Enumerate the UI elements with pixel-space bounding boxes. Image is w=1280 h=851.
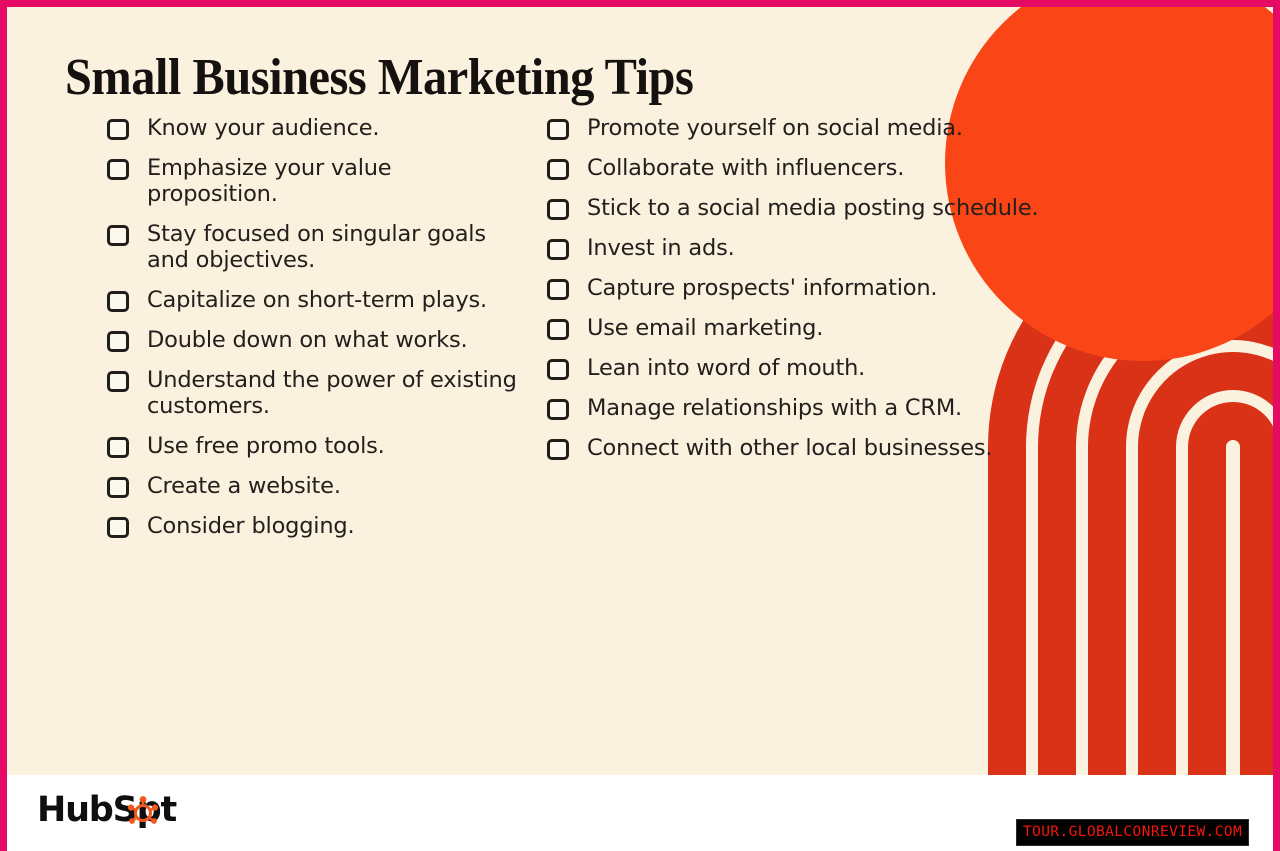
checkbox-icon[interactable] bbox=[547, 119, 569, 140]
list-item[interactable]: Use free promo tools. bbox=[107, 433, 527, 459]
checkbox-icon[interactable] bbox=[547, 359, 569, 380]
watermark-badge: TOUR.GLOBALCONREVIEW.COM bbox=[1016, 819, 1249, 846]
list-item-label: Create a website. bbox=[147, 473, 341, 499]
page-title: Small Business Marketing Tips bbox=[65, 49, 693, 107]
checkbox-icon[interactable] bbox=[547, 399, 569, 420]
infographic-frame: Small Business Marketing Tips Know your … bbox=[0, 0, 1280, 851]
checkbox-icon[interactable] bbox=[547, 159, 569, 180]
list-item[interactable]: Capitalize on short-term plays. bbox=[107, 287, 527, 313]
checkbox-icon[interactable] bbox=[547, 319, 569, 340]
right-column: Promote yourself on social media. Collab… bbox=[527, 115, 1087, 475]
list-item[interactable]: Stay focused on singular goals and objec… bbox=[107, 221, 527, 273]
list-item[interactable]: Double down on what works. bbox=[107, 327, 527, 353]
checkbox-icon[interactable] bbox=[107, 437, 129, 458]
list-item[interactable]: Use email marketing. bbox=[547, 315, 1087, 341]
checkbox-icon[interactable] bbox=[107, 477, 129, 498]
checkbox-icon[interactable] bbox=[107, 225, 129, 246]
list-item-label: Emphasize your value proposition. bbox=[147, 155, 527, 207]
list-item-label: Capitalize on short-term plays. bbox=[147, 287, 487, 313]
list-item[interactable]: Promote yourself on social media. bbox=[547, 115, 1087, 141]
list-item[interactable]: Manage relationships with a CRM. bbox=[547, 395, 1087, 421]
list-item-label: Use email marketing. bbox=[587, 315, 823, 341]
list-item[interactable]: Know your audience. bbox=[107, 115, 527, 141]
list-item-label: Consider blogging. bbox=[147, 513, 354, 539]
list-item-label: Capture prospects' information. bbox=[587, 275, 937, 301]
list-item-label: Collaborate with influencers. bbox=[587, 155, 904, 181]
list-item-label: Double down on what works. bbox=[147, 327, 467, 353]
checkbox-icon[interactable] bbox=[107, 291, 129, 312]
hubspot-logo: HubSp t bbox=[37, 789, 176, 831]
list-item[interactable]: Understand the power of existing custome… bbox=[107, 367, 527, 419]
list-item-label: Know your audience. bbox=[147, 115, 379, 141]
checkbox-icon[interactable] bbox=[107, 159, 129, 180]
checkbox-icon[interactable] bbox=[107, 331, 129, 352]
checkbox-icon[interactable] bbox=[107, 119, 129, 140]
list-item[interactable]: Stick to a social media posting schedule… bbox=[547, 195, 1087, 221]
list-item-label: Promote yourself on social media. bbox=[587, 115, 963, 141]
watermark-text: TOUR.GLOBALCONREVIEW.COM bbox=[1023, 824, 1242, 840]
checkbox-icon[interactable] bbox=[547, 239, 569, 260]
list-item[interactable]: Capture prospects' information. bbox=[547, 275, 1087, 301]
infographic-card: Small Business Marketing Tips Know your … bbox=[7, 7, 1273, 775]
list-item[interactable]: Connect with other local businesses. bbox=[547, 435, 1087, 461]
list-item[interactable]: Emphasize your value proposition. bbox=[107, 155, 527, 207]
list-item-label: Manage relationships with a CRM. bbox=[587, 395, 962, 421]
list-item-label: Connect with other local businesses. bbox=[587, 435, 992, 461]
checkbox-icon[interactable] bbox=[107, 517, 129, 538]
checkbox-icon[interactable] bbox=[547, 199, 569, 220]
checkbox-icon[interactable] bbox=[547, 439, 569, 460]
list-item-label: Stay focused on singular goals and objec… bbox=[147, 221, 527, 273]
list-item[interactable]: Create a website. bbox=[107, 473, 527, 499]
list-item[interactable]: Consider blogging. bbox=[107, 513, 527, 539]
list-item[interactable]: Lean into word of mouth. bbox=[547, 355, 1087, 381]
list-item[interactable]: Collaborate with influencers. bbox=[547, 155, 1087, 181]
list-item-label: Understand the power of existing custome… bbox=[147, 367, 527, 419]
checkbox-icon[interactable] bbox=[107, 371, 129, 392]
list-item-label: Lean into word of mouth. bbox=[587, 355, 865, 381]
list-item[interactable]: Invest in ads. bbox=[547, 235, 1087, 261]
checklist-columns: Know your audience. Emphasize your value… bbox=[7, 115, 1273, 553]
hubspot-wordmark-end: t bbox=[161, 793, 177, 828]
left-column: Know your audience. Emphasize your value… bbox=[7, 115, 527, 553]
checkbox-icon[interactable] bbox=[547, 279, 569, 300]
list-item-label: Use free promo tools. bbox=[147, 433, 385, 459]
list-item-label: Stick to a social media posting schedule… bbox=[587, 195, 1038, 221]
list-item-label: Invest in ads. bbox=[587, 235, 735, 261]
